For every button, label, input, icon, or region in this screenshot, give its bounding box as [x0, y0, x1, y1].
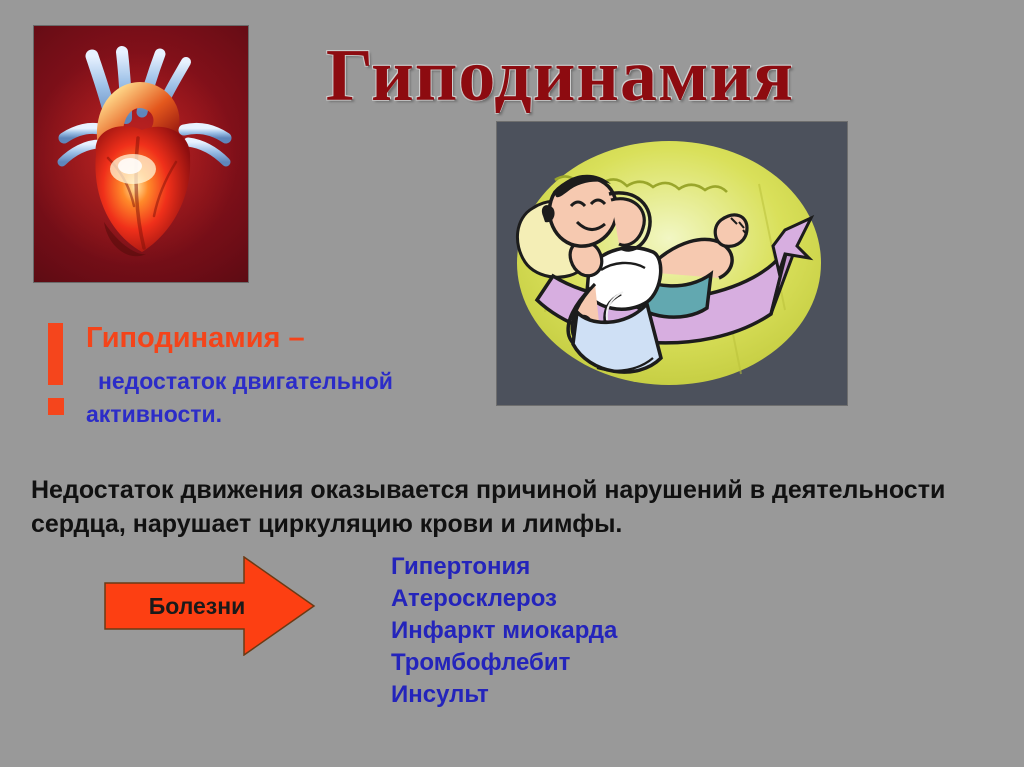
definition-body-line-1: недостаток двигательной	[86, 365, 486, 398]
heart-graphic	[34, 26, 248, 282]
disease-list: Гипертония Атеросклероз Инфаркт миокарда…	[391, 551, 617, 711]
anatomical-heart-illustration	[34, 26, 248, 282]
definition-term: Гиподинамия –	[86, 322, 305, 355]
page-title: Гиподинамия	[300, 38, 820, 114]
definition-body-line-2: активности.	[86, 398, 486, 431]
paragraph-line-2: сердца, нарушает циркуляцию крови и лимф…	[31, 507, 996, 541]
presentation-slide: Гиподинамия	[0, 0, 1024, 767]
list-item: Инсульт	[391, 679, 617, 711]
exclamation-mark-icon	[48, 323, 63, 385]
list-item: Гипертония	[391, 551, 617, 583]
right-arrow-icon	[104, 556, 316, 656]
exclamation-dot-icon	[48, 398, 64, 415]
paragraph-line-1: Недостаток движения оказывается причиной…	[31, 473, 996, 507]
list-item: Инфаркт миокарда	[391, 615, 617, 647]
list-item: Тромбофлебит	[391, 647, 617, 679]
hammock-graphic	[497, 122, 847, 405]
diseases-arrow	[104, 556, 316, 656]
list-item: Атеросклероз	[391, 583, 617, 615]
body-paragraph: Недостаток движения оказывается причиной…	[31, 473, 996, 541]
man-relaxing-in-hammock-cartoon	[497, 122, 847, 405]
definition-body: недостаток двигательной активности.	[86, 365, 486, 431]
